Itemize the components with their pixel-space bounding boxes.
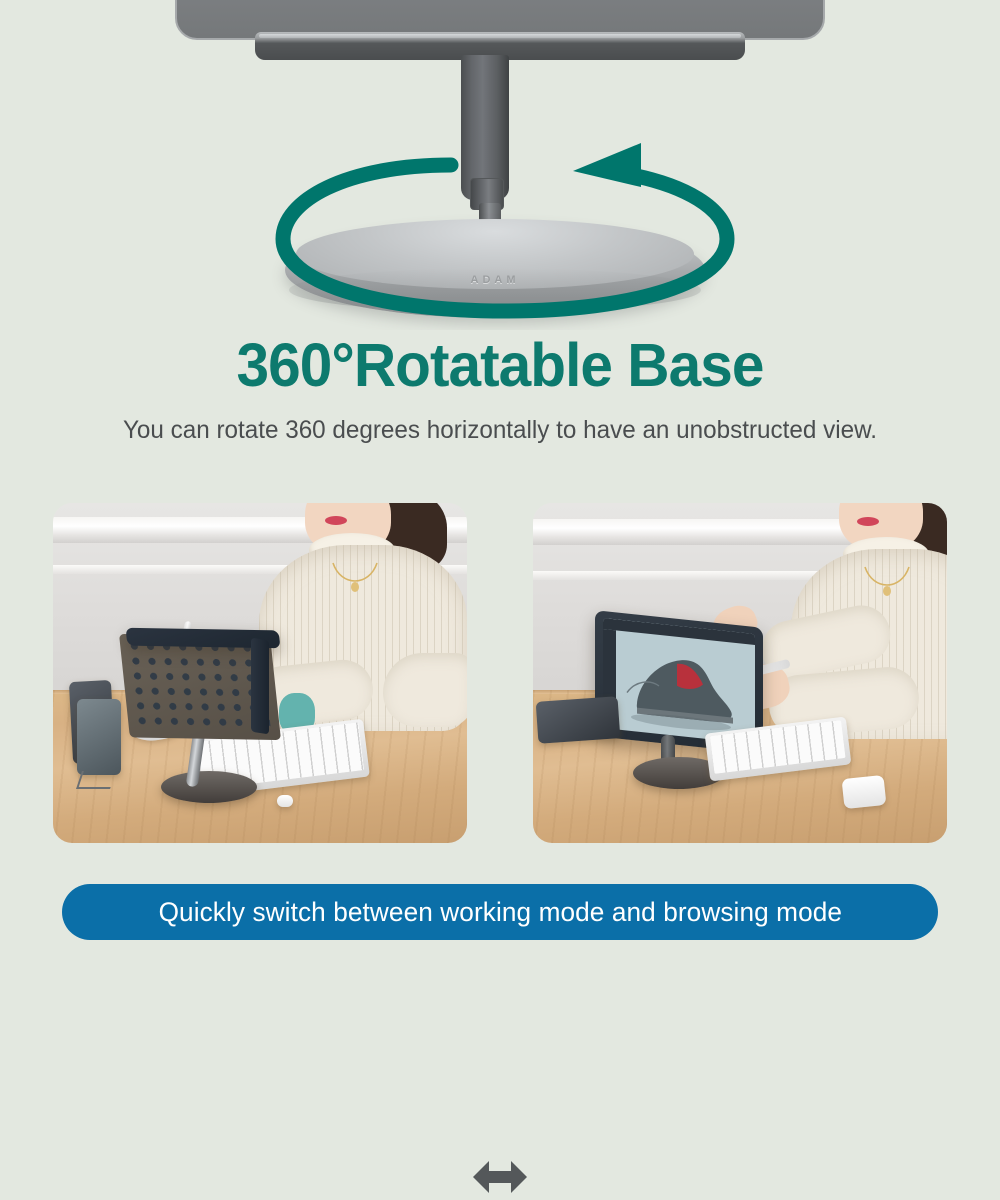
phone-kickstand: [76, 771, 116, 789]
swap-mode-arrow-icon: [471, 1154, 529, 1200]
product-infographic: ADAM 360°Rotatable Base You can rotate 3…: [0, 0, 1000, 1000]
shoe-sketch: [619, 636, 749, 738]
smartphone-on-desk: [536, 696, 621, 744]
person-lips: [857, 517, 879, 526]
stand-base-left: [161, 771, 257, 803]
comparison-panels: [0, 503, 1000, 845]
page-title: 360°Rotatable Base: [20, 333, 980, 397]
panel-browsing-mode: [533, 503, 947, 843]
bottom-banner: Quickly switch between working mode and …: [62, 884, 938, 940]
necklace: [861, 565, 913, 599]
panel-working-mode: [53, 503, 467, 843]
person-lips: [325, 516, 347, 525]
phone-front: [77, 699, 121, 775]
working-mode-photo: [53, 503, 467, 843]
rotation-arrow-icon: [255, 135, 755, 325]
necklace: [329, 561, 381, 595]
tablet-left-edge: [251, 638, 269, 735]
page-subtitle: You can rotate 360 degrees horizontally …: [15, 414, 985, 446]
tablet-screen: [603, 618, 755, 744]
memory-card: [277, 795, 293, 807]
browsing-mode-photo: [533, 503, 947, 843]
banner-text: Quickly switch between working mode and …: [158, 897, 842, 928]
person-right-arm: [383, 653, 467, 727]
hero-product-image: ADAM: [0, 0, 1000, 330]
earbuds-case: [842, 775, 887, 809]
